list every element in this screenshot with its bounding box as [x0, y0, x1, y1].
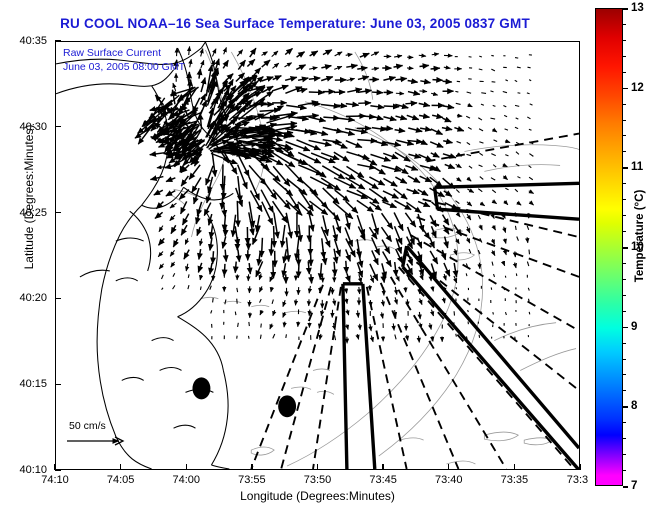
- current-vector-arrow: [370, 106, 384, 108]
- current-vector-arrow: [346, 141, 362, 148]
- current-vector-arrow: [445, 164, 455, 168]
- current-vector-arrow: [431, 310, 433, 316]
- current-vector-arrow: [444, 298, 445, 303]
- current-vector-arrow: [407, 115, 419, 119]
- current-vector-arrow: [431, 226, 436, 237]
- current-vector-arrow: [272, 51, 278, 57]
- current-vector-arrow: [347, 310, 349, 316]
- current-vector-arrow: [407, 335, 408, 341]
- current-vector-arrow: [492, 262, 493, 266]
- current-vector-arrow: [445, 237, 448, 248]
- current-vector-arrow: [455, 91, 458, 92]
- current-vector-arrow: [284, 249, 287, 263]
- current-vector-arrow: [309, 67, 317, 69]
- current-vector-arrow: [529, 154, 533, 157]
- current-vector-arrow: [189, 165, 200, 180]
- y-axis-label: Latitude (Degrees:Minutes): [22, 82, 36, 312]
- current-vector-arrow: [528, 288, 529, 291]
- current-vector-arrow: [430, 142, 443, 147]
- current-vector-arrow: [493, 165, 496, 167]
- current-vector-arrow: [421, 226, 430, 239]
- colorbar-minor-tick: [623, 279, 626, 280]
- colorbar-tick-mark: [623, 167, 628, 169]
- current-vector-arrow: [155, 95, 163, 105]
- current-vector-arrow: [528, 213, 529, 218]
- current-vector-arrow: [334, 249, 337, 264]
- current-vector-arrow: [360, 53, 369, 57]
- current-vector-arrow: [503, 106, 506, 107]
- current-vector-arrow: [396, 273, 399, 281]
- current-vector-arrow: [530, 202, 534, 205]
- colorbar-tick-label: 8: [631, 400, 637, 412]
- current-vector-arrow: [383, 153, 398, 158]
- current-vector-arrow: [505, 141, 510, 143]
- current-vector-arrow: [225, 250, 226, 262]
- current-vector-arrow: [285, 63, 292, 67]
- current-vector-arrow: [370, 324, 371, 331]
- current-vector-arrow: [456, 287, 457, 289]
- current-vector-arrow: [394, 65, 403, 67]
- current-vector-arrow: [529, 177, 533, 180]
- y-axis-tick-label: 40:15: [2, 378, 47, 390]
- current-vector-arrow: [493, 312, 494, 314]
- current-vector-arrow: [466, 336, 467, 339]
- current-vector-arrow: [237, 201, 238, 227]
- current-vector-arrow: [173, 285, 175, 289]
- current-vector-arrow: [529, 166, 532, 168]
- current-vector-arrow: [250, 48, 256, 57]
- current-vector-arrow: [469, 166, 472, 168]
- current-vector-arrow: [431, 129, 443, 135]
- current-vector-arrow: [285, 87, 302, 94]
- current-vector-arrow: [171, 225, 176, 233]
- current-vector-arrow: [467, 189, 473, 192]
- current-vector-arrow: [346, 54, 353, 55]
- current-vector-arrow: [444, 67, 451, 68]
- current-vector-arrow: [201, 60, 204, 68]
- colorbar-minor-tick: [623, 374, 626, 375]
- current-vector-arrow: [419, 312, 420, 319]
- current-vector-arrow: [418, 201, 430, 206]
- current-vector-arrow: [173, 83, 176, 91]
- current-vector-arrow: [527, 93, 530, 94]
- current-vector-arrow: [334, 178, 356, 188]
- current-vector-arrow: [235, 262, 236, 273]
- current-vector-arrow: [296, 65, 305, 70]
- current-vector-arrow: [320, 334, 321, 340]
- current-vector-arrow: [468, 127, 471, 129]
- current-vector-arrow: [444, 191, 452, 196]
- current-vector-arrow: [159, 238, 165, 245]
- current-vector-arrow: [515, 105, 519, 106]
- current-vector-arrow: [408, 81, 418, 83]
- colorbar-minor-tick: [623, 359, 626, 360]
- x-axis-tick-mark: [448, 464, 449, 470]
- current-vector-arrow: [192, 177, 201, 192]
- colorbar-label: Temperature (°C): [634, 136, 646, 336]
- current-vector-arrow: [503, 176, 507, 180]
- current-vector-arrow: [527, 226, 528, 230]
- current-vector-arrow: [346, 288, 347, 293]
- current-vector-arrow: [334, 66, 342, 69]
- current-vector-arrow: [295, 299, 296, 305]
- colorbar: [595, 8, 623, 486]
- current-vector-arrow: [419, 55, 426, 56]
- current-vector-arrow: [394, 56, 402, 57]
- current-vector-arrow: [212, 49, 216, 57]
- current-vector-arrow: [491, 178, 495, 180]
- current-vector-arrow: [395, 226, 402, 244]
- current-vector-arrow: [188, 274, 189, 277]
- current-vector-arrow: [334, 130, 354, 135]
- current-vector-arrow: [492, 190, 496, 193]
- current-vector-arrow: [467, 154, 471, 155]
- current-vector-arrow: [200, 286, 201, 289]
- current-vector-arrow: [494, 274, 495, 277]
- colorbar-minor-tick: [623, 454, 626, 455]
- y-axis-tick-mark: [55, 40, 61, 41]
- current-vector-arrow: [370, 264, 378, 281]
- current-vector-arrow: [478, 189, 482, 192]
- current-vector-arrow: [308, 261, 309, 274]
- current-vector-arrow: [515, 80, 517, 81]
- current-vector-arrow: [273, 76, 282, 80]
- current-vector-arrow: [395, 200, 412, 209]
- current-vector-arrow: [225, 224, 226, 236]
- current-vector-arrow: [209, 214, 212, 225]
- current-vector-arrow: [419, 103, 430, 105]
- annotation-line-2: June 03, 2005 08:00 GMT: [63, 60, 185, 74]
- current-vector-arrow: [493, 226, 495, 231]
- right-arrow-icon: [63, 434, 133, 448]
- current-vector-arrow: [383, 77, 395, 80]
- current-vector-arrow: [282, 225, 285, 247]
- colorbar-tick-label: 12: [631, 82, 644, 94]
- current-vector-arrow: [529, 129, 532, 130]
- current-vector-arrow: [345, 128, 367, 132]
- current-vector-arrow: [479, 165, 483, 167]
- current-vector-arrow: [298, 78, 308, 80]
- current-vector-arrow: [370, 300, 371, 307]
- current-vector-arrow: [210, 263, 212, 274]
- current-vector-arrow: [515, 127, 518, 128]
- coastline: [56, 42, 233, 469]
- current-vector-arrow: [530, 104, 533, 105]
- current-vector-arrow: [199, 69, 200, 79]
- current-vector-arrow: [212, 152, 215, 176]
- x-axis-tick-mark: [186, 464, 187, 470]
- colorbar-minor-tick: [623, 231, 626, 232]
- x-axis-tick-label: 73:55: [238, 474, 266, 486]
- current-vector-arrow: [467, 202, 472, 206]
- current-vector-arrow: [347, 273, 350, 282]
- current-vector-arrow: [321, 310, 322, 316]
- y-axis-tick-mark: [55, 212, 61, 213]
- current-vector-arrow: [372, 250, 378, 264]
- colorbar-tick-label: 7: [631, 480, 637, 492]
- x-axis-tick-label: 73:50: [304, 474, 332, 486]
- current-vector-arrow: [481, 104, 484, 105]
- current-vector-arrow: [357, 68, 367, 70]
- current-vector-arrow: [382, 312, 383, 318]
- current-vector-arrow: [213, 251, 214, 264]
- current-vector-arrow: [494, 140, 498, 142]
- x-axis-tick-mark: [514, 464, 515, 470]
- colorbar-minor-tick: [623, 56, 626, 57]
- current-vector-arrow: [237, 288, 238, 292]
- current-vector-arrow: [166, 178, 175, 182]
- current-vector-arrow: [183, 214, 189, 225]
- colorbar-minor-tick: [623, 470, 626, 471]
- current-vector-arrow: [466, 116, 470, 118]
- current-vector-arrow: [170, 215, 175, 221]
- current-vector-arrow: [173, 239, 177, 247]
- current-vector-arrow: [442, 128, 452, 130]
- current-vector-arrow: [335, 335, 336, 340]
- current-vector-arrow: [468, 310, 469, 312]
- current-vector-arrow: [381, 227, 391, 241]
- current-vector-arrow: [170, 203, 176, 208]
- current-vector-arrow: [150, 153, 165, 155]
- current-vector-arrow: [335, 190, 349, 201]
- current-vector-arrow: [310, 249, 311, 266]
- current-vector-arrow: [223, 236, 226, 248]
- current-vector-arrow: [188, 285, 189, 289]
- x-axis-tick-label: 73:45: [369, 474, 397, 486]
- current-vector-arrow: [372, 92, 383, 93]
- current-vector-arrow: [347, 324, 348, 329]
- current-vector-arrow: [155, 212, 163, 218]
- current-vector-arrow: [405, 213, 415, 227]
- station-markers: [192, 377, 296, 417]
- current-vector-arrow: [517, 236, 519, 240]
- current-vector-arrow: [396, 116, 407, 119]
- colorbar-minor-tick: [623, 311, 626, 312]
- current-vector-arrow: [469, 249, 471, 253]
- current-vector-arrow: [456, 190, 459, 193]
- current-vector-arrow: [372, 68, 379, 69]
- current-vector-arrow: [198, 263, 201, 273]
- current-vector-arrow: [210, 237, 212, 250]
- current-vector-arrow: [311, 153, 335, 163]
- current-vector-arrow: [505, 80, 507, 81]
- current-vector-arrow: [154, 190, 163, 195]
- current-vector-arrow: [248, 336, 249, 339]
- current-vector-arrow: [430, 215, 436, 226]
- colorbar-minor-tick: [623, 120, 626, 121]
- current-vector-arrow: [158, 252, 163, 257]
- current-vector-arrow: [262, 60, 270, 67]
- current-vector-arrow: [503, 165, 508, 167]
- current-vector-arrow: [235, 312, 236, 316]
- current-vector-arrow: [297, 115, 319, 117]
- current-vector-arrow: [372, 116, 383, 119]
- current-vector-arrow: [504, 201, 508, 205]
- colorbar-tick-mark: [623, 406, 628, 408]
- current-vector-arrow: [527, 262, 528, 266]
- current-vector-arrow: [200, 113, 201, 129]
- current-vector-arrow: [420, 128, 431, 130]
- current-vector-arrow: [370, 202, 382, 210]
- x-axis-tick-label: 73:40: [435, 474, 463, 486]
- current-vector-arrow: [490, 91, 493, 92]
- current-vector-arrow: [479, 142, 483, 143]
- current-vector-arrow: [491, 69, 495, 71]
- current-vector-arrow: [529, 80, 531, 81]
- current-vector-arrow: [309, 286, 310, 293]
- current-vector-arrow: [432, 286, 433, 291]
- current-vector-arrow: [247, 59, 254, 66]
- current-vector-arrow: [237, 50, 242, 56]
- x-axis-tick-label: 74:00: [172, 474, 200, 486]
- current-vector-arrow: [490, 118, 495, 119]
- current-vector-arrow: [346, 104, 359, 106]
- radar-coverage-boundaries: [343, 183, 579, 469]
- current-vector-arrow: [430, 323, 432, 329]
- current-vector-arrow: [199, 249, 201, 259]
- current-vector-arrow: [298, 322, 299, 327]
- current-vector-arrow: [213, 298, 214, 302]
- current-vector-arrow: [358, 310, 359, 317]
- current-vector-arrow: [505, 312, 506, 315]
- current-vector-arrow: [371, 336, 373, 342]
- current-vector-arrow: [467, 214, 471, 220]
- current-vector-arrow: [529, 191, 534, 194]
- current-vector-arrow: [431, 68, 440, 69]
- current-vector-arrow: [395, 287, 396, 295]
- current-vector-arrow: [346, 249, 351, 261]
- current-vector-arrow: [467, 178, 471, 181]
- current-vector-arrow: [258, 251, 260, 265]
- current-vector-arrow: [200, 239, 202, 246]
- current-vector-arrow: [333, 166, 355, 179]
- current-vector-arrow: [334, 299, 335, 306]
- current-vector-arrow: [369, 177, 384, 185]
- current-vector-arrow: [456, 103, 461, 104]
- current-vector-arrow: [334, 262, 335, 276]
- current-vector-arrow: [442, 250, 445, 260]
- current-vector-arrow: [420, 323, 421, 329]
- current-vector-arrow: [249, 263, 250, 274]
- current-vector-arrow: [299, 189, 313, 210]
- current-vector-arrow: [515, 58, 518, 59]
- current-vector-arrow: [296, 140, 320, 150]
- current-vector-arrow: [262, 52, 268, 56]
- x-axis-tick-label: 73:35: [501, 474, 529, 486]
- current-vector-arrow: [527, 117, 530, 119]
- current-vector-arrow: [383, 252, 392, 267]
- current-vector-arrow: [159, 226, 163, 232]
- current-vector-arrow: [432, 115, 443, 117]
- current-vector-arrow: [150, 177, 163, 180]
- current-vector-arrow: [466, 273, 467, 276]
- colorbar-minor-tick: [623, 40, 626, 41]
- current-vector-arrow: [262, 202, 273, 225]
- current-vector-arrow: [283, 312, 285, 317]
- current-vector-arrow: [285, 48, 292, 54]
- current-vector-arrow: [417, 238, 421, 249]
- current-vector-arrow: [159, 264, 163, 269]
- current-vector-arrow: [382, 128, 393, 129]
- current-vector-arrow: [181, 225, 187, 235]
- current-vector-arrow: [259, 286, 262, 292]
- current-vector-arrow: [395, 130, 405, 131]
- current-vector-arrow: [457, 141, 461, 143]
- current-vector-arrow: [431, 153, 440, 157]
- current-vector-arrow: [493, 129, 497, 132]
- current-vector-arrow: [357, 190, 379, 203]
- colorbar-minor-tick: [623, 263, 626, 264]
- current-vector-arrow: [430, 177, 443, 187]
- current-vector-arrow: [171, 262, 175, 267]
- current-vector-arrow: [309, 78, 320, 79]
- current-vector-arrow: [479, 129, 483, 131]
- current-vector-arrow: [420, 298, 422, 304]
- x-axis-tick-label: 73:3: [567, 474, 588, 486]
- current-vector-arrow: [238, 323, 239, 327]
- current-vector-arrow: [236, 73, 245, 81]
- current-vector-arrow: [382, 213, 393, 229]
- current-vector-arrow: [260, 299, 262, 302]
- current-vector-arrow: [162, 288, 163, 290]
- current-vector-arrow: [430, 251, 437, 264]
- colorbar-minor-tick: [623, 295, 626, 296]
- current-vector-arrow: [408, 176, 420, 183]
- current-vector-arrow: [503, 261, 505, 266]
- colorbar-tick-mark: [623, 486, 628, 488]
- current-vector-arrow: [323, 140, 342, 143]
- current-vector-arrow: [478, 215, 480, 219]
- current-vector-arrow: [393, 323, 394, 330]
- current-vector-arrow: [286, 105, 306, 108]
- current-vector-arrow: [432, 336, 433, 341]
- current-vector-arrow: [395, 335, 396, 340]
- colorbar-tick-mark: [623, 88, 628, 90]
- current-vector-arrow: [505, 155, 508, 156]
- colorbar-tick-label: 13: [631, 2, 644, 14]
- current-vector-arrow: [457, 178, 462, 181]
- current-vector-arrow: [395, 78, 406, 79]
- current-vector-arrow: [224, 47, 227, 54]
- current-vector-arrow: [286, 213, 291, 238]
- current-vector-arrow: [161, 275, 163, 279]
- current-vector-arrow: [517, 67, 521, 68]
- current-vector-arrow: [515, 226, 516, 230]
- figure-canvas: RU COOL NOAA–16 Sea Surface Temperature:…: [0, 0, 651, 515]
- current-vector-arrow: [443, 141, 452, 143]
- colorbar-minor-tick: [623, 135, 626, 136]
- current-vector-arrow: [443, 81, 452, 82]
- current-vector-arrow: [225, 299, 226, 304]
- current-vector-arrow: [323, 188, 339, 204]
- current-vector-arrow: [311, 274, 312, 283]
- colorbar-minor-tick: [623, 151, 626, 152]
- current-vector-arrow: [383, 191, 398, 198]
- x-axis-tick-mark: [317, 464, 318, 470]
- current-vector-arrow: [233, 215, 236, 237]
- current-vector-arrow: [395, 297, 397, 304]
- current-vector-arrow: [321, 66, 331, 68]
- current-vector-arrow: [504, 227, 506, 233]
- colorbar-minor-tick: [623, 72, 626, 73]
- current-vector-arrow: [444, 274, 446, 280]
- x-axis-tick-mark: [251, 464, 252, 470]
- current-vector-arrow: [468, 105, 473, 107]
- colorbar-minor-tick: [623, 343, 626, 344]
- current-vector-arrow: [346, 65, 357, 67]
- current-vector-arrow: [238, 249, 239, 261]
- colorbar-minor-tick: [623, 215, 626, 216]
